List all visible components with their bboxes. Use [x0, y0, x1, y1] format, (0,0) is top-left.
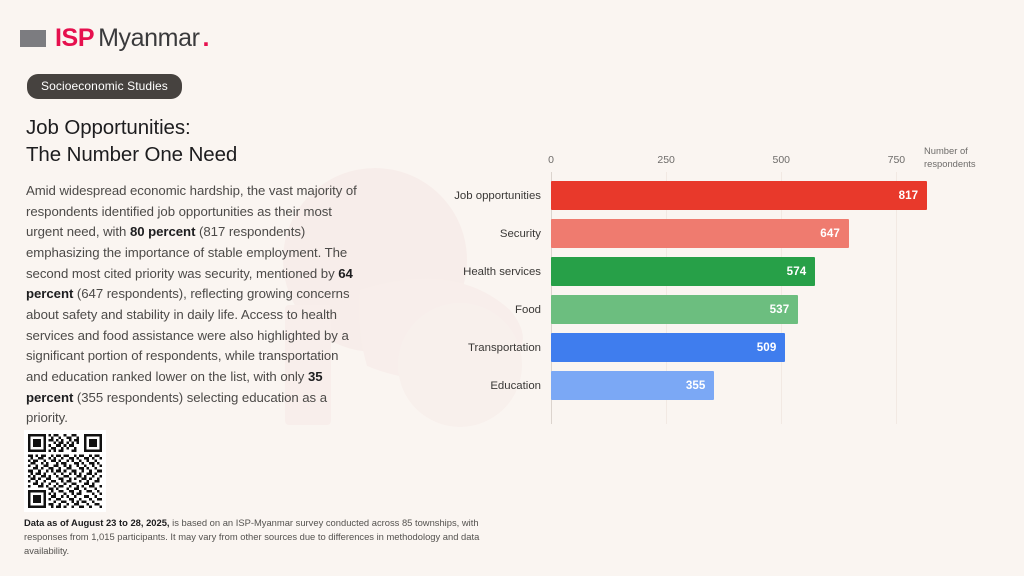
- x-axis-caption: Number of respondents: [924, 145, 1004, 170]
- footnote: Data as of August 23 to 28, 2025, is bas…: [24, 516, 494, 558]
- qr-code-icon: [28, 434, 102, 508]
- chart-x-axis: Number of respondents 0250500750: [430, 140, 1010, 172]
- brand-logo: ISP Myanmar .: [20, 24, 209, 53]
- bar-value-label: 574: [787, 265, 816, 278]
- chart-bar[interactable]: 817: [551, 181, 927, 210]
- body-text-3: (647 respondents), reflecting growing co…: [26, 286, 350, 384]
- x-tick-label: 250: [657, 154, 675, 166]
- chart-bar[interactable]: 647: [551, 219, 849, 248]
- body-paragraph: Amid widespread economic hardship, the v…: [26, 181, 361, 429]
- infographic-page: ISP Myanmar . Socioeconomic Studies Job …: [0, 0, 1024, 576]
- chart-bar-row: Education355: [430, 371, 1010, 400]
- bar-category-label: Security: [421, 228, 551, 240]
- bar-category-label: Transportation: [421, 342, 551, 354]
- brand-myanmar-text: Myanmar: [98, 24, 199, 53]
- x-tick-label: 0: [548, 154, 554, 166]
- chart-bar-row: Job opportunities817: [430, 181, 1010, 210]
- chart-bar[interactable]: 509: [551, 333, 785, 362]
- footnote-date: Data as of August 23 to 28, 2025,: [24, 517, 170, 528]
- chart-bar[interactable]: 537: [551, 295, 798, 324]
- chart-bar[interactable]: 355: [551, 371, 714, 400]
- chart-bar-row: Transportation509: [430, 333, 1010, 362]
- x-axis-caption-line-2: respondents: [924, 158, 1004, 171]
- page-title: Job Opportunities: The Number One Need: [26, 114, 237, 169]
- body-bold-1: 80 percent: [130, 224, 195, 239]
- bar-value-label: 355: [686, 379, 715, 392]
- x-axis-caption-line-1: Number of: [924, 145, 1004, 158]
- bar-category-label: Education: [421, 380, 551, 392]
- brand-square-icon: [20, 30, 46, 47]
- chart-bar-row: Food537: [430, 295, 1010, 324]
- chart-bar-row: Health services574: [430, 257, 1010, 286]
- bar-category-label: Job opportunities: [421, 190, 551, 202]
- bar-category-label: Food: [421, 304, 551, 316]
- x-tick-label: 750: [888, 154, 906, 166]
- bar-value-label: 647: [820, 227, 849, 240]
- category-badge: Socioeconomic Studies: [27, 74, 182, 99]
- bar-value-label: 537: [770, 303, 799, 316]
- x-tick-label: 500: [772, 154, 790, 166]
- bar-value-label: 817: [899, 189, 928, 202]
- chart-bar-row: Security647: [430, 219, 1010, 248]
- bar-chart: Number of respondents 0250500750 Job opp…: [430, 140, 1010, 440]
- qr-code[interactable]: [24, 430, 106, 512]
- brand-isp-text: ISP: [55, 24, 94, 53]
- page-title-line-2: The Number One Need: [26, 141, 237, 168]
- chart-plot-area: Job opportunities817Security647Health se…: [430, 172, 1010, 424]
- chart-bar[interactable]: 574: [551, 257, 815, 286]
- page-title-line-1: Job Opportunities:: [26, 114, 237, 141]
- bar-category-label: Health services: [421, 266, 551, 278]
- brand-dot-icon: .: [203, 24, 210, 53]
- bar-value-label: 509: [757, 341, 786, 354]
